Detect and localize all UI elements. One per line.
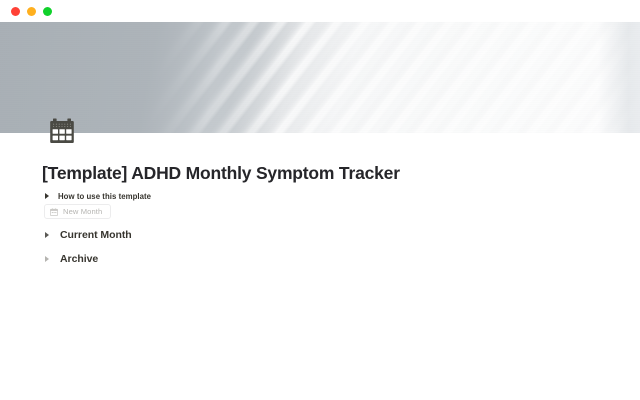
new-month-button[interactable]: New Month <box>44 204 111 219</box>
toggle-heading-label: Current Month <box>60 229 132 241</box>
triangle-right-icon[interactable] <box>42 253 52 265</box>
cover-grain-layer <box>0 22 640 133</box>
page-content: [Template] ADHD Monthly Symptom Tracker … <box>0 133 640 400</box>
app-window: [Template] ADHD Monthly Symptom Tracker … <box>0 0 640 400</box>
toggle-current-month[interactable]: Current Month <box>42 229 132 241</box>
toggle-archive[interactable]: Archive <box>42 253 98 265</box>
page-title[interactable]: [Template] ADHD Monthly Symptom Tracker <box>42 162 400 184</box>
minimize-window-button[interactable] <box>27 7 36 16</box>
calendar-icon <box>50 208 58 216</box>
window-titlebar <box>0 0 640 22</box>
toggle-heading-label: Archive <box>60 253 98 265</box>
page-icon-calendar[interactable] <box>48 117 76 145</box>
close-window-button[interactable] <box>11 7 20 16</box>
traffic-light-buttons <box>11 7 52 16</box>
triangle-right-icon[interactable] <box>42 229 52 241</box>
new-month-button-label: New Month <box>63 207 102 216</box>
maximize-window-button[interactable] <box>43 7 52 16</box>
page-cover-image[interactable] <box>0 22 640 133</box>
toggle-how-to-use-this-template[interactable]: How to use this template <box>42 190 151 202</box>
new-month-block: New Month <box>44 204 111 219</box>
calendar-icon <box>48 117 76 145</box>
triangle-right-icon[interactable] <box>42 190 52 202</box>
toggle-label: How to use this template <box>58 192 151 201</box>
